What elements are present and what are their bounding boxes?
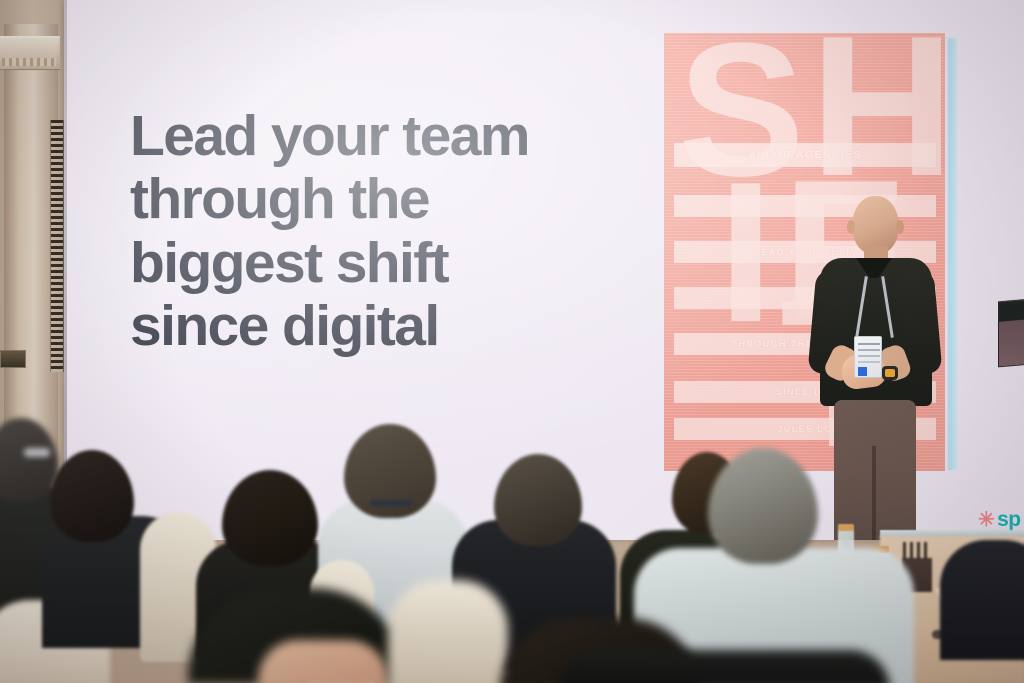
audience-member-11-shoulder	[560, 650, 890, 683]
brand-logo: ✳ sp	[978, 508, 1020, 532]
poster-accent-stripe	[948, 38, 957, 470]
audience-member-8-body	[940, 540, 1024, 660]
slide-headline: Lead your team through the biggest shift…	[130, 105, 650, 358]
headline-line-2: through the	[130, 168, 650, 231]
presenter-name-badge	[854, 336, 882, 378]
column-capital	[0, 36, 60, 70]
presenter-leg-seam	[872, 446, 876, 540]
side-monitor	[998, 299, 1024, 368]
headline-line-1: Lead your team	[130, 105, 650, 168]
headline-line-3: biggest shift	[130, 232, 650, 295]
poster-band-tagline: AI FOR AGENCIES	[674, 143, 936, 167]
wall-outlet-plate	[0, 350, 26, 368]
wall-vent-icon	[50, 120, 64, 372]
eyeglasses-icon	[24, 448, 50, 457]
headline-line-4: since digital	[130, 295, 650, 358]
wristwatch-icon	[882, 366, 898, 380]
asterisk-icon: ✳	[978, 510, 994, 530]
audience-member-9-face	[258, 640, 388, 683]
brand-logo-wordmark: sp	[997, 508, 1020, 532]
presenter-ear-right	[896, 220, 904, 234]
lanyard-icon	[370, 500, 412, 506]
conference-photo-scene: Lead your team through the biggest shift…	[0, 0, 1024, 683]
chair-4	[388, 580, 508, 683]
water-bottle-cap-1	[838, 524, 854, 531]
presenter-figure	[804, 196, 944, 540]
presenter-ear-left	[847, 220, 855, 234]
